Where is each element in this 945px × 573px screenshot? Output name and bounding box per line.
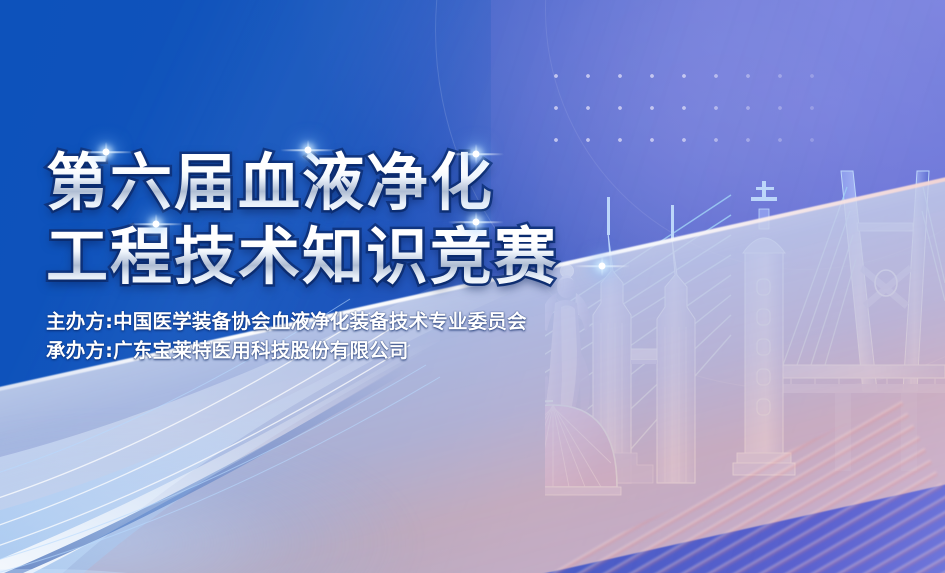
title-line-1: 第六届血液净化 <box>46 148 686 218</box>
undertaker-line: 承办方:广东宝莱特医用科技股份有限公司 <box>46 337 686 364</box>
event-banner: 第六届血液净化 第六届血液净化 工程技术知识竞赛 工程技术知识竞赛 <box>0 0 945 573</box>
dot-grid-pattern <box>536 56 836 160</box>
organizer-line: 主办方:中国医学装备协会血液净化装备技术专业委员会 <box>46 308 686 335</box>
banner-text-block: 第六届血液净化 第六届血液净化 工程技术知识竞赛 工程技术知识竞赛 <box>46 148 686 364</box>
title-line-2: 工程技术知识竞赛 <box>46 222 686 292</box>
title-line-1-wrap: 第六届血液净化 第六届血液净化 <box>46 148 686 218</box>
title-line-2-wrap: 工程技术知识竞赛 工程技术知识竞赛 <box>46 222 686 292</box>
